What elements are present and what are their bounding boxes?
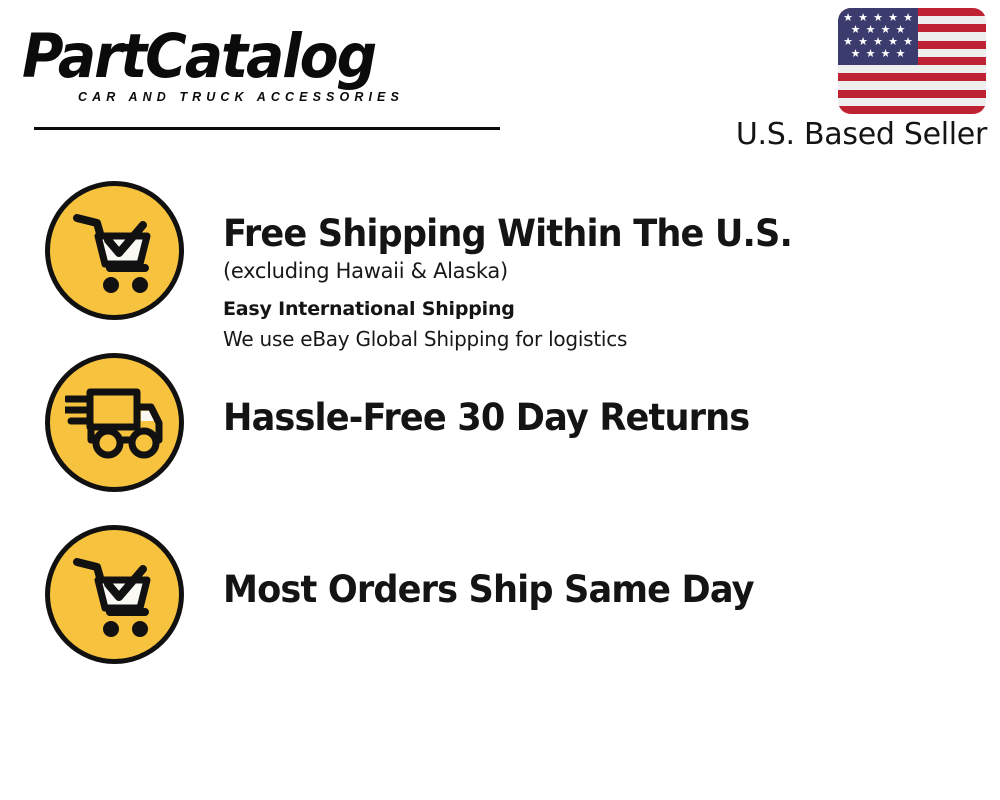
brand-tagline: CAR AND TRUCK ACCESSORIES: [78, 90, 492, 104]
feature-headline: Free Shipping Within The U.S.: [223, 212, 945, 256]
feature-row-same-day-shipping: Most Orders Ship Same Day: [0, 522, 1000, 694]
us-flag-icon: ★★★★★ ★★★★ ★★★★★ ★★★★: [838, 8, 986, 114]
feature-headline: Most Orders Ship Same Day: [223, 568, 945, 612]
brand-wordmark: PartCatalog: [22, 26, 459, 88]
feature-text-same-day: Most Orders Ship Same Day: [223, 568, 983, 612]
flag-canton: ★★★★★ ★★★★ ★★★★★ ★★★★: [838, 8, 918, 65]
feature-subline: (excluding Hawaii & Alaska): [223, 256, 983, 286]
delivery-truck-icon: [45, 353, 184, 492]
feature-row-free-shipping: Free Shipping Within The U.S. (excluding…: [0, 178, 1000, 350]
brand-logo[interactable]: PartCatalog CAR AND TRUCK ACCESSORIES: [22, 26, 492, 104]
feature-subhead: Easy International Shipping: [223, 294, 983, 324]
feature-row-returns: Hassle-Free 30 Day Returns: [0, 350, 1000, 522]
shopping-cart-check-icon: [45, 525, 184, 664]
feature-text-free-shipping: Free Shipping Within The U.S. (excluding…: [223, 212, 983, 354]
feature-text-returns: Hassle-Free 30 Day Returns: [223, 396, 983, 440]
feature-headline: Hassle-Free 30 Day Returns: [223, 396, 945, 440]
shopping-cart-check-icon: [45, 181, 184, 320]
page-header: PartCatalog CAR AND TRUCK ACCESSORIES ★★…: [0, 0, 1000, 175]
us-based-seller-label: U.S. Based Seller: [725, 118, 987, 152]
brand-underline-rule: [34, 127, 500, 130]
